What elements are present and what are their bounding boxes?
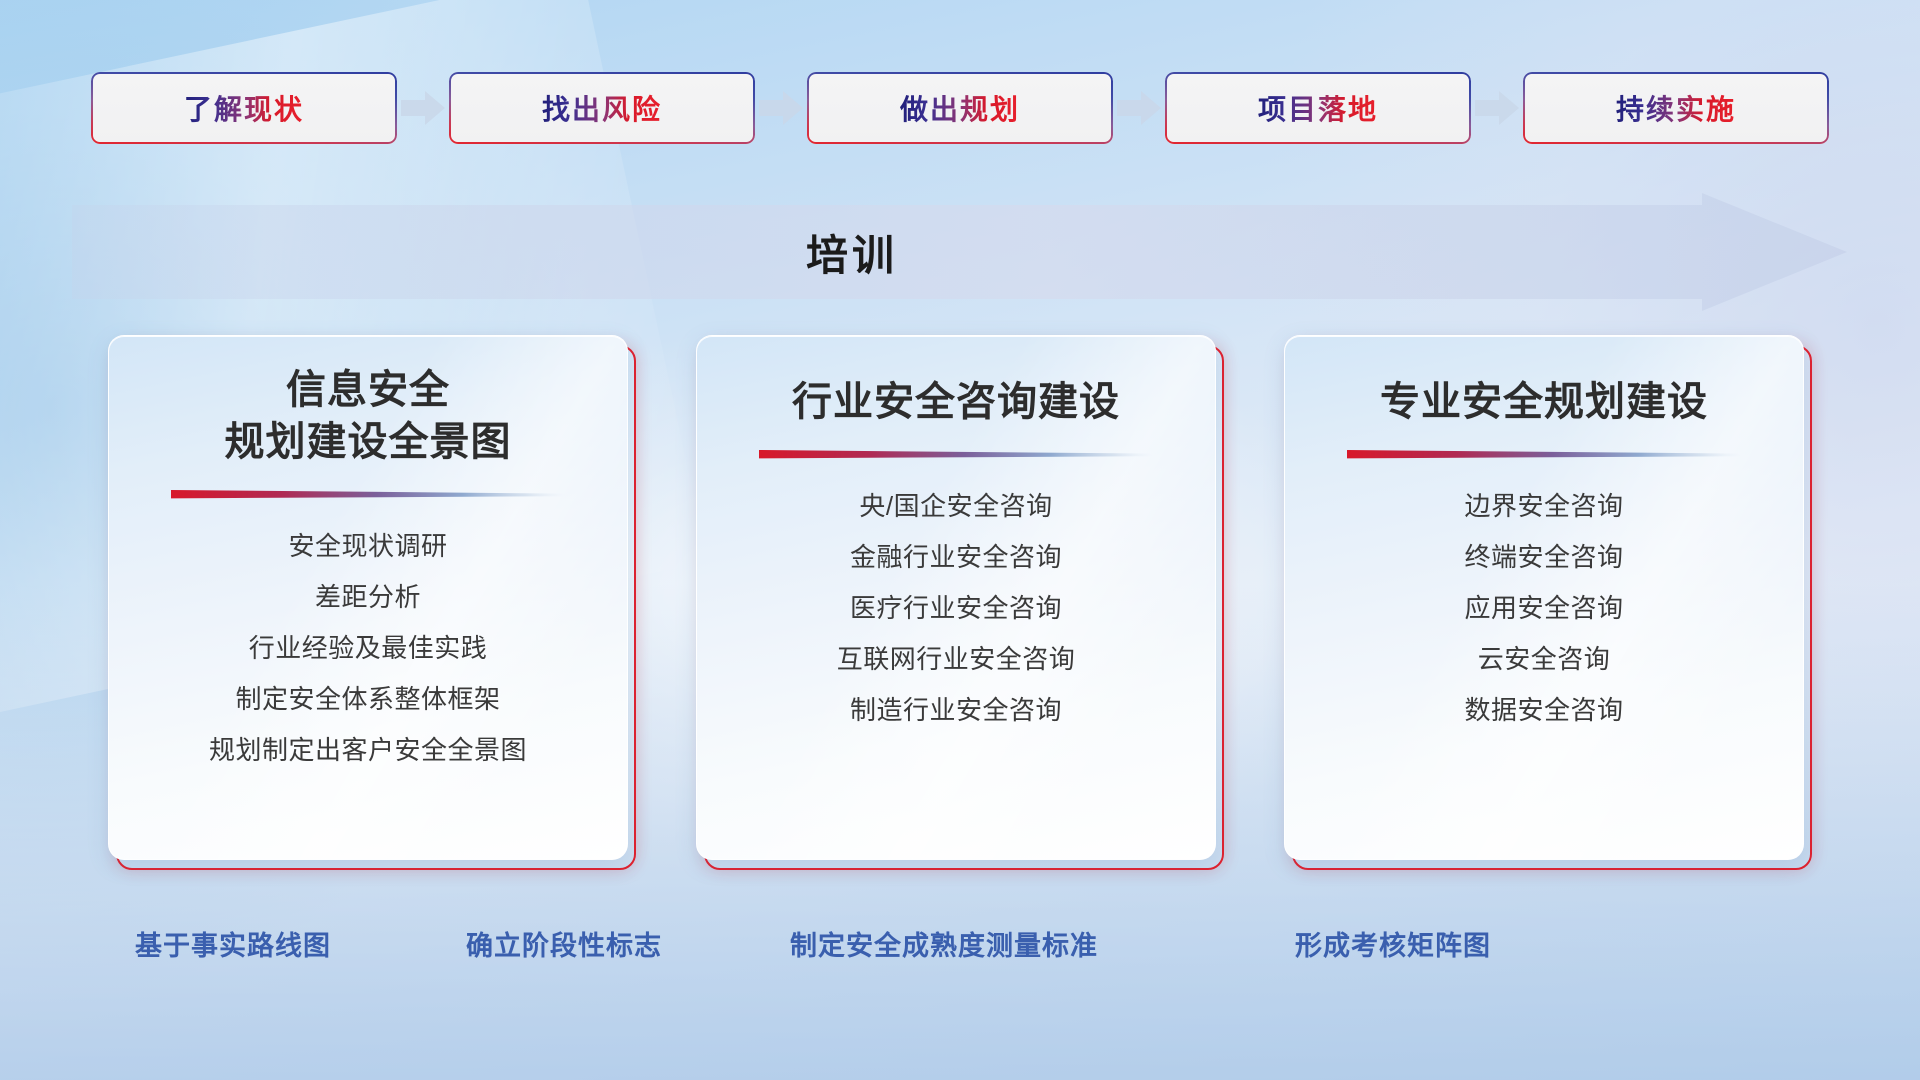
footer-label-1: 基于事实路线图 xyxy=(135,912,331,974)
card-body[interactable]: 行业安全咨询建设 xyxy=(696,335,1216,860)
step-arrow-1 xyxy=(397,72,449,144)
step-box[interactable]: 找出风险 xyxy=(449,72,755,144)
step-box[interactable]: 了解现状 xyxy=(91,72,397,144)
card-title: 信息安全规划建设全景图 xyxy=(225,364,512,468)
card-title: 专业安全规划建设 xyxy=(1380,376,1708,428)
step-4[interactable]: 项目落地 xyxy=(1165,72,1471,144)
step-5[interactable]: 持续实施 xyxy=(1523,72,1829,144)
card-list-item[interactable]: 数据安全咨询 xyxy=(1464,689,1623,731)
step-box[interactable]: 持续实施 xyxy=(1523,72,1829,144)
card-list-item[interactable]: 云安全咨询 xyxy=(1464,638,1623,680)
card-body[interactable]: 信息安全规划建设全景图 xyxy=(108,335,628,860)
card-list-item[interactable]: 规划制定出客户安全全景图 xyxy=(209,729,527,771)
step-label: 做出规划 xyxy=(900,88,1020,128)
footer-label-4: 形成考核矩阵图 xyxy=(1295,912,1491,974)
card-list-item[interactable]: 终端安全咨询 xyxy=(1464,536,1623,578)
step-label: 找出风险 xyxy=(542,88,662,128)
card-list-item[interactable]: 互联网行业安全咨询 xyxy=(837,638,1076,680)
gradient-divider-icon xyxy=(171,490,565,499)
step-arrow-3 xyxy=(1113,72,1165,144)
training-banner: 培训 xyxy=(72,193,1847,311)
card-list-item[interactable]: 央/国企安全咨询 xyxy=(837,485,1076,527)
step-1[interactable]: 了解现状 xyxy=(91,72,397,144)
card-title-line: 规划建设全景图 xyxy=(225,416,512,468)
card-body[interactable]: 专业安全规划建设 xyxy=(1284,335,1804,860)
card-list-item[interactable]: 差距分析 xyxy=(209,576,527,618)
card-list: 央/国企安全咨询金融行业安全咨询医疗行业安全咨询互联网行业安全咨询制造行业安全咨… xyxy=(837,485,1076,732)
step-2[interactable]: 找出风险 xyxy=(449,72,755,144)
card-title-line: 专业安全规划建设 xyxy=(1380,376,1708,428)
service-card-1[interactable]: 信息安全规划建设全景图 xyxy=(108,335,636,870)
card-list-item[interactable]: 金融行业安全咨询 xyxy=(837,536,1076,578)
card-list-item[interactable]: 应用安全咨询 xyxy=(1464,587,1623,629)
card-title: 行业安全咨询建设 xyxy=(792,376,1120,428)
service-card-row: 信息安全规划建设全景图 xyxy=(0,335,1920,870)
card-list-item[interactable]: 边界安全咨询 xyxy=(1464,485,1623,527)
card-list-item[interactable]: 行业经验及最佳实践 xyxy=(209,627,527,669)
gradient-divider-icon xyxy=(759,450,1153,459)
step-box[interactable]: 项目落地 xyxy=(1165,72,1471,144)
arrow-right-icon xyxy=(1475,91,1519,125)
step-arrow-4 xyxy=(1471,72,1523,144)
step-3[interactable]: 做出规划 xyxy=(807,72,1113,144)
footer-label-row: 基于事实路线图确立阶段性标志制定安全成熟度测量标准形成考核矩阵图 xyxy=(0,912,1920,974)
banner-title: 培训 xyxy=(72,193,1632,311)
footer-label-2: 确立阶段性标志 xyxy=(466,912,662,974)
card-list-item[interactable]: 安全现状调研 xyxy=(209,525,527,567)
service-card-3[interactable]: 专业安全规划建设 xyxy=(1284,335,1812,870)
gradient-divider-icon xyxy=(1347,450,1741,459)
card-list-item[interactable]: 制定安全体系整体框架 xyxy=(209,678,527,720)
arrow-right-icon xyxy=(401,91,445,125)
service-card-2[interactable]: 行业安全咨询建设 xyxy=(696,335,1224,870)
card-list-item[interactable]: 医疗行业安全咨询 xyxy=(837,587,1076,629)
arrow-right-icon xyxy=(759,91,803,125)
step-arrow-2 xyxy=(755,72,807,144)
card-list: 安全现状调研差距分析行业经验及最佳实践制定安全体系整体框架规划制定出客户安全全景… xyxy=(209,525,527,772)
card-list: 边界安全咨询终端安全咨询应用安全咨询云安全咨询数据安全咨询 xyxy=(1464,485,1623,732)
step-label: 了解现状 xyxy=(184,88,304,128)
process-step-row: 了解现状 找出风险 做出规划 项目落地 持续实施 xyxy=(0,72,1920,144)
step-label: 项目落地 xyxy=(1258,88,1378,128)
card-list-item[interactable]: 制造行业安全咨询 xyxy=(837,689,1076,731)
footer-label-3: 制定安全成熟度测量标准 xyxy=(790,912,1098,974)
step-box[interactable]: 做出规划 xyxy=(807,72,1113,144)
arrow-right-icon xyxy=(1117,91,1161,125)
card-title-line: 信息安全 xyxy=(225,364,512,416)
card-title-line: 行业安全咨询建设 xyxy=(792,376,1120,428)
step-label: 持续实施 xyxy=(1616,88,1736,128)
